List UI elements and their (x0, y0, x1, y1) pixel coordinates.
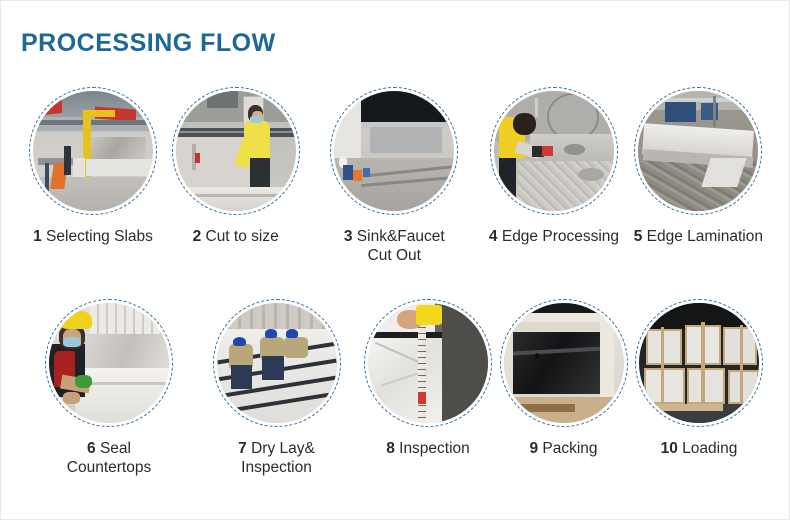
page-title: PROCESSING FLOW (21, 29, 276, 58)
photo-selecting-slabs (33, 91, 153, 211)
step-4-photo-ring (490, 87, 618, 215)
step-3-photo-ring (330, 87, 458, 215)
process-step-4[interactable]: 4 Edge Processing (489, 87, 619, 265)
step-9-caption: 9 Packing (529, 439, 597, 458)
photo-inspection (368, 303, 488, 423)
photo-edge-processing (494, 91, 614, 211)
process-step-1[interactable]: 1 Selecting Slabs (29, 87, 157, 265)
photo-cut-to-size (176, 91, 296, 211)
step-10-photo-ring (635, 299, 763, 427)
step-8-photo-ring (364, 299, 492, 427)
step-7-caption: 7 Dry Lay& Inspection (197, 439, 357, 477)
process-step-9[interactable]: 9 Packing (500, 299, 628, 477)
step-5-caption: 5 Edge Lamination (634, 227, 763, 246)
step-4-caption: 4 Edge Processing (489, 227, 619, 246)
step-2-caption: 2 Cut to size (193, 227, 279, 246)
process-step-5[interactable]: 5 Edge Lamination (634, 87, 763, 265)
step-5-photo-ring (634, 87, 762, 215)
photo-seal-countertops (49, 303, 169, 423)
process-row-2: 6 Seal Countertops 7 Dry Lay& Inspection (1, 299, 790, 477)
process-step-7[interactable]: 7 Dry Lay& Inspection (197, 299, 357, 477)
process-step-6[interactable]: 6 Seal Countertops (29, 299, 189, 477)
step-7-photo-ring (213, 299, 341, 427)
photo-loading (639, 303, 759, 423)
photo-sink-faucet-cut-out (334, 91, 454, 211)
step-2-photo-ring (172, 87, 300, 215)
photo-edge-lamination (638, 91, 758, 211)
process-step-2[interactable]: 2 Cut to size (172, 87, 300, 265)
processing-flow-page: PROCESSING FLOW 1 Selecting Slabs (0, 0, 790, 520)
step-1-photo-ring (29, 87, 157, 215)
photo-packing (504, 303, 624, 423)
step-8-caption: 8 Inspection (386, 439, 470, 458)
step-3-caption: 3 Sink&Faucet Cut Out (314, 227, 474, 265)
step-10-caption: 10 Loading (661, 439, 738, 458)
process-step-8[interactable]: 8 Inspection (364, 299, 492, 477)
process-step-3[interactable]: 3 Sink&Faucet Cut Out (314, 87, 474, 265)
photo-dry-lay-inspection (217, 303, 337, 423)
step-9-photo-ring (500, 299, 628, 427)
step-6-photo-ring (45, 299, 173, 427)
process-step-10[interactable]: 10 Loading (635, 299, 763, 477)
step-6-caption: 6 Seal Countertops (29, 439, 189, 477)
step-1-caption: 1 Selecting Slabs (33, 227, 153, 246)
process-row-1: 1 Selecting Slabs 2 Cut to size (1, 87, 790, 265)
